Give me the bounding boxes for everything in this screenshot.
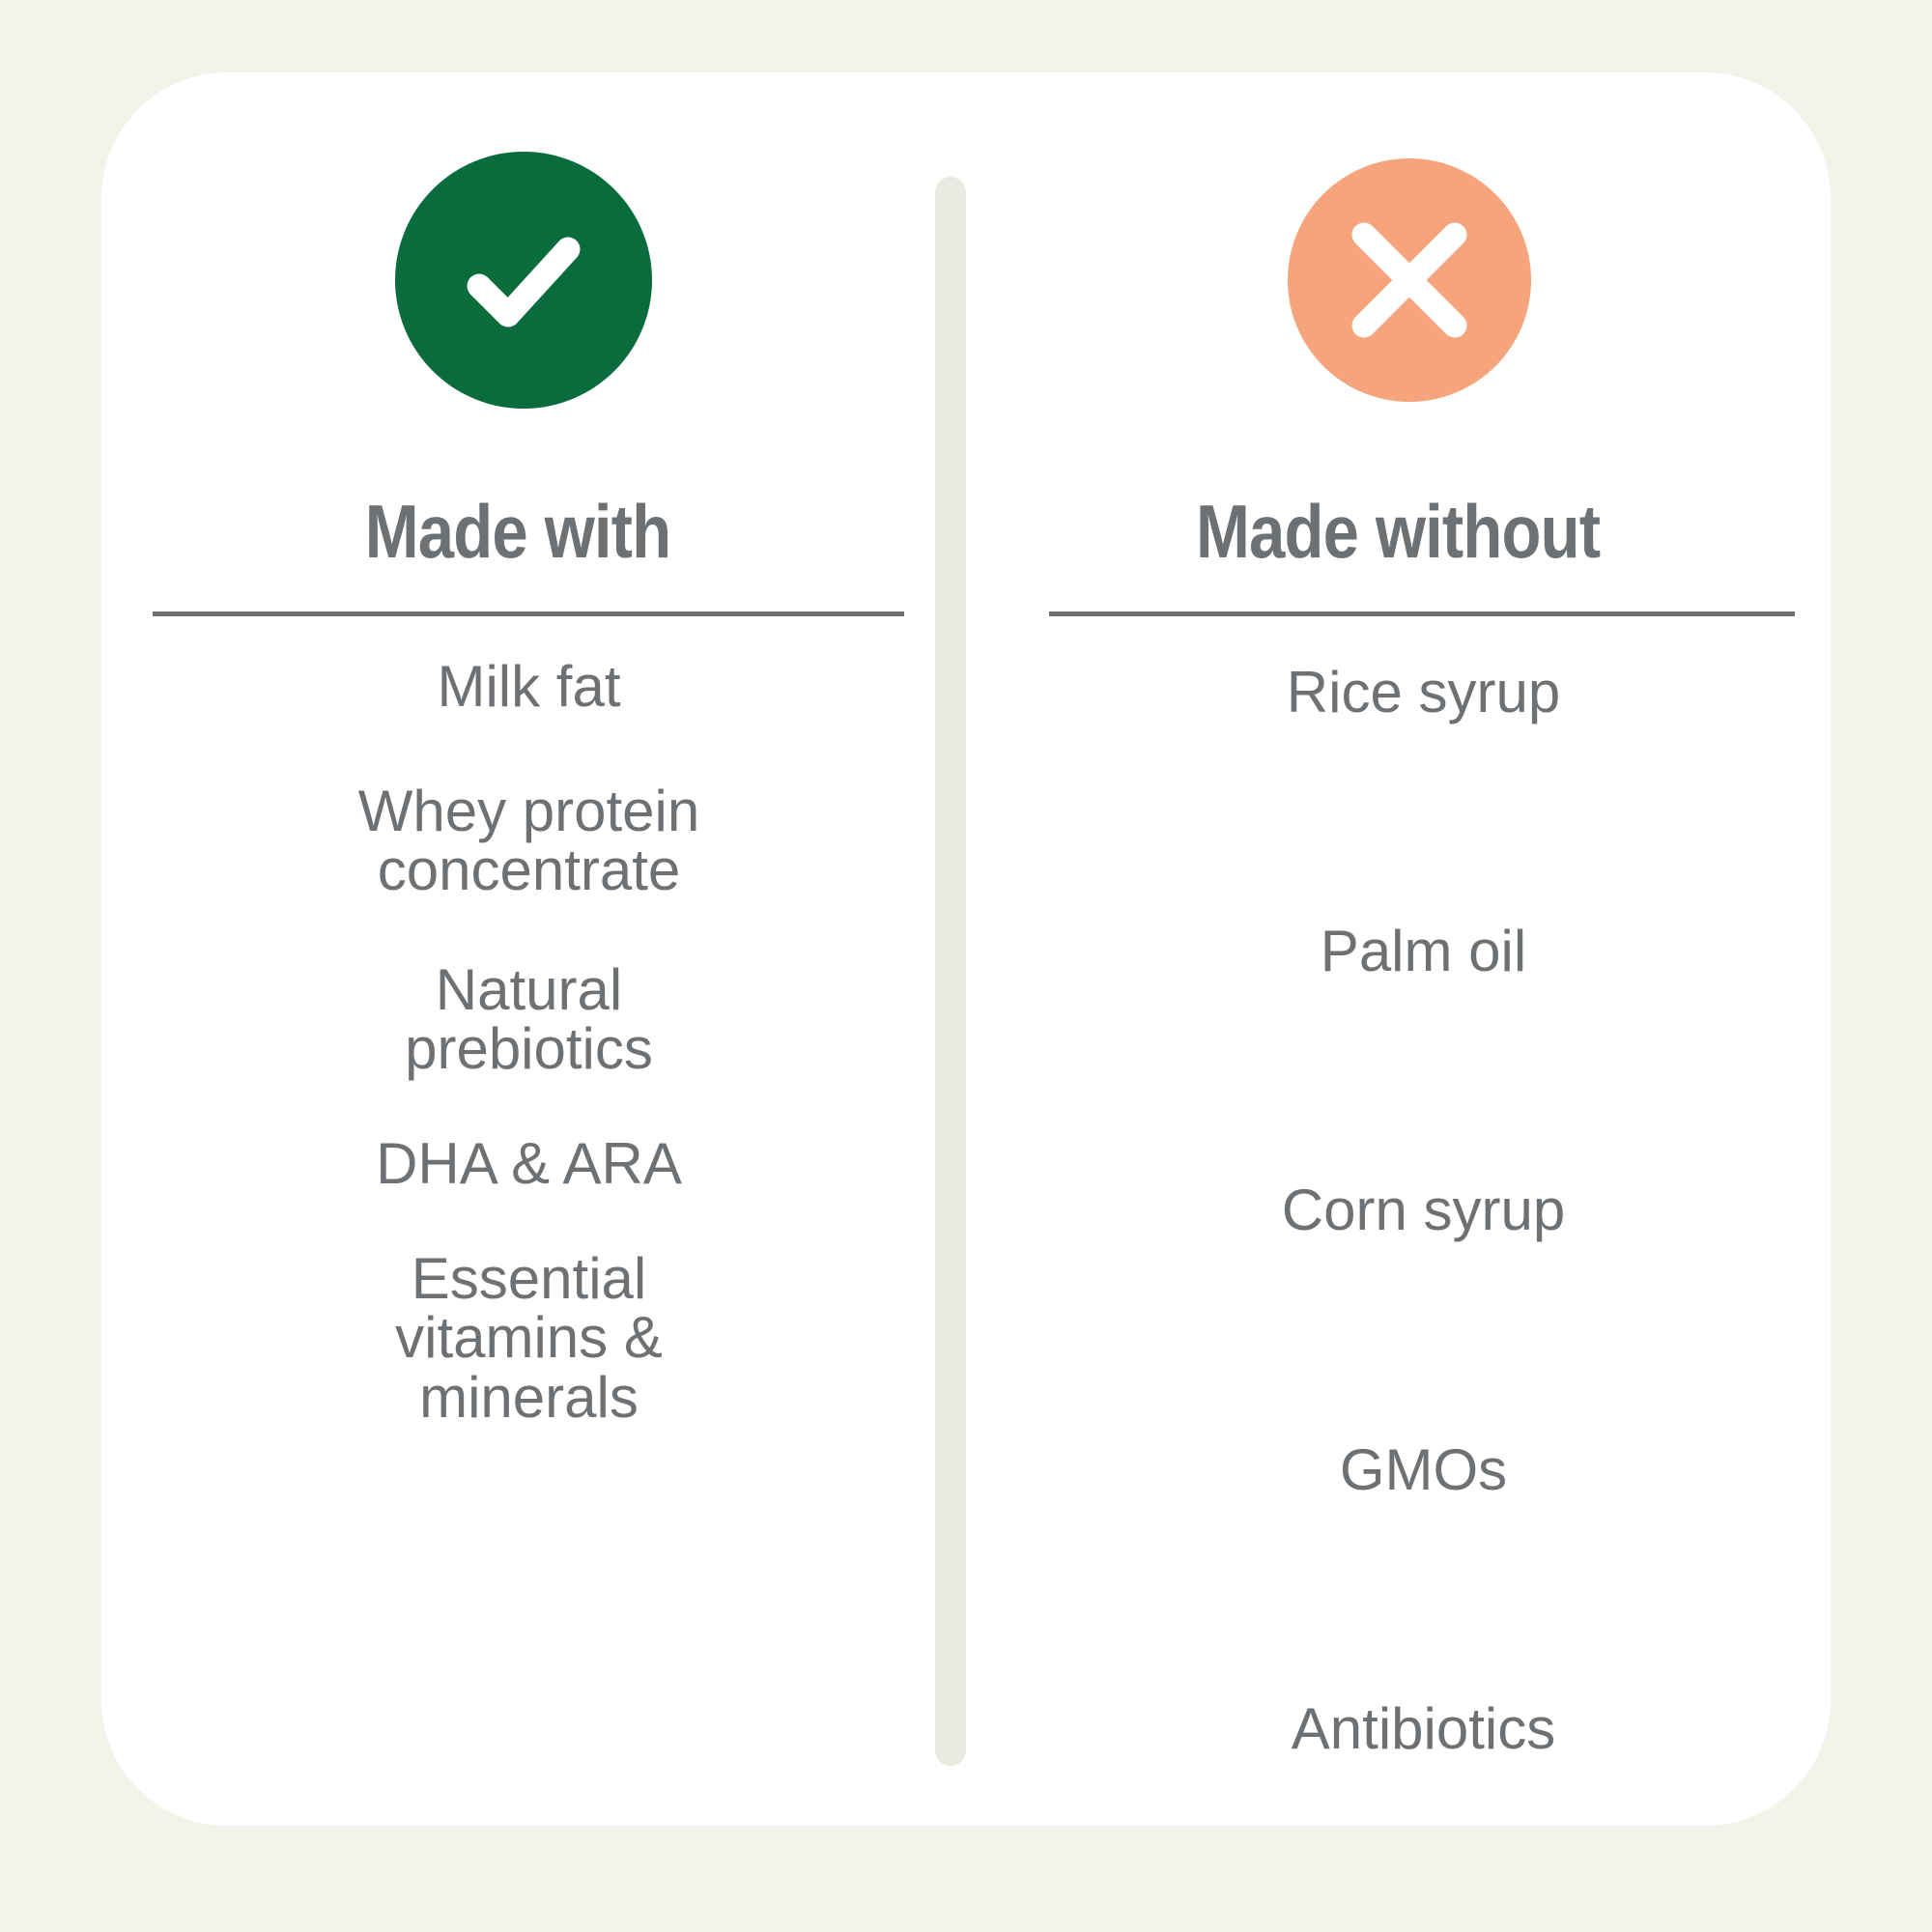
list-item: GMOs	[1340, 1440, 1507, 1499]
list-item-line: concentrate	[358, 840, 700, 899]
made-without-header: Made without	[1196, 494, 1600, 569]
list-item: DHA & ARA	[376, 1134, 682, 1193]
list-item-line: Whey protein	[358, 781, 700, 840]
made-without-column: Made without Rice syrup Palm oil Corn sy…	[966, 72, 1831, 1826]
made-without-list: Rice syrup Palm oil Corn syrup GMOs Anti…	[966, 616, 1831, 1826]
made-without-badge-wrap	[966, 72, 1831, 488]
list-item-line: Milk fat	[437, 657, 620, 716]
comparison-infographic: Made with Milk fat Whey protein concentr…	[0, 0, 1932, 1932]
list-item-line: Antibiotics	[1292, 1699, 1555, 1758]
column-separator	[935, 177, 966, 1766]
made-with-header: Made with	[365, 494, 670, 569]
list-item: Rice syrup	[1287, 663, 1560, 722]
list-item: Corn syrup	[1282, 1180, 1565, 1239]
list-item-line: GMOs	[1340, 1440, 1507, 1499]
list-item-line: prebiotics	[405, 1019, 653, 1078]
list-item-line: vitamins &	[395, 1308, 663, 1367]
x-circle-icon	[1288, 158, 1531, 402]
list-item: Palm oil	[1321, 922, 1526, 980]
list-item: Milk fat	[437, 657, 620, 716]
list-item-line: minerals	[395, 1368, 663, 1427]
list-item-line: Palm oil	[1321, 922, 1526, 980]
list-item: Antibiotics	[1292, 1699, 1555, 1758]
list-item: Natural prebiotics	[405, 960, 653, 1078]
list-item: Essential vitamins & minerals	[395, 1249, 663, 1427]
list-item-line: Corn syrup	[1282, 1180, 1565, 1239]
check-circle-icon	[395, 152, 652, 409]
list-item-line: Rice syrup	[1287, 663, 1560, 722]
made-with-column: Made with Milk fat Whey protein concentr…	[101, 72, 935, 1826]
list-item-line: Natural	[405, 960, 653, 1019]
list-item-line: DHA & ARA	[376, 1134, 682, 1193]
list-item-line: Essential	[395, 1249, 663, 1308]
made-with-list: Milk fat Whey protein concentrate Natura…	[101, 616, 935, 1826]
list-item: Whey protein concentrate	[358, 781, 700, 899]
made-with-badge-wrap	[101, 72, 935, 488]
